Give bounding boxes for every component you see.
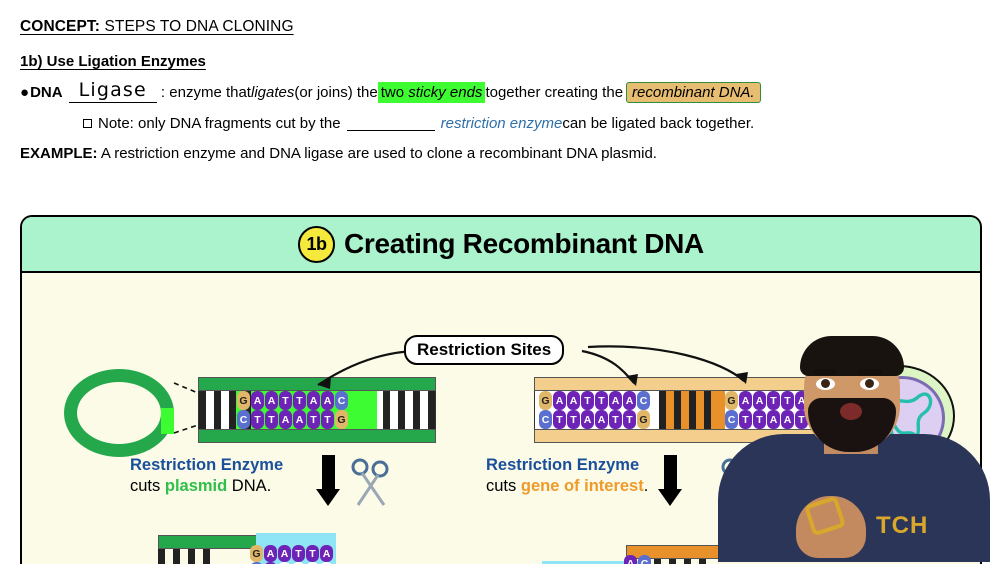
diagram-body: Restriction Sites [22,273,980,564]
definition-text-2: (or joins) the [294,84,377,101]
diagram-title: Creating Recombinant DNA [344,228,704,260]
section-subheading: 1b) Use Ligation Enzymes [20,53,980,70]
diagram-panel: 1b Creating Recombinant DNA Restriction … [20,215,982,564]
step-badge-1b: 1b [298,226,335,263]
colon: : [161,84,165,101]
handwritten-answer-ligase: Ligase [69,79,157,103]
concept-keyword: CONCEPT: [20,18,100,35]
note-text-1: Note: only DNA fragments cut by the [98,115,341,132]
highlight-word-two: two [381,84,409,101]
example-line: EXAMPLE: A restriction enzyme and DNA li… [20,145,980,162]
highlight-sticky-ends: two sticky ends [378,82,486,103]
term-dna: DNA [30,84,63,101]
concept-line: CONCEPT: STEPS TO DNA CLONING [20,18,980,36]
example-text: A restriction enzyme and DNA ligase are … [98,145,657,162]
boxed-term-recombinant-dna: recombinant DNA. [626,82,761,103]
note-term-restriction-enzyme: restriction enzyme [441,115,563,132]
concept-title: STEPS TO DNA CLONING [100,18,294,35]
bullet-dot-icon: ● [20,85,29,100]
fill-in-blank [347,117,435,131]
highlight-italic-sticky-ends: sticky ends [408,84,482,101]
restriction-site-arrows [22,273,980,564]
diagram-header: 1b Creating Recombinant DNA [22,217,980,273]
definition-line: ● DNA Ligase : enzyme that ligates (or j… [20,80,980,104]
checkbox-square-icon [83,119,92,128]
italic-ligates: ligates [251,84,294,101]
definition-text-1: enzyme that [169,84,251,101]
notes-area: CONCEPT: STEPS TO DNA CLONING 1b) Use Li… [0,0,1000,162]
note-line: Note: only DNA fragments cut by the rest… [20,115,980,132]
example-keyword: EXAMPLE: [20,145,98,162]
definition-text-3: together creating the [485,84,623,101]
restriction-sites-label: Restriction Sites [404,335,564,365]
note-text-2: can be ligated back together. [562,115,754,132]
